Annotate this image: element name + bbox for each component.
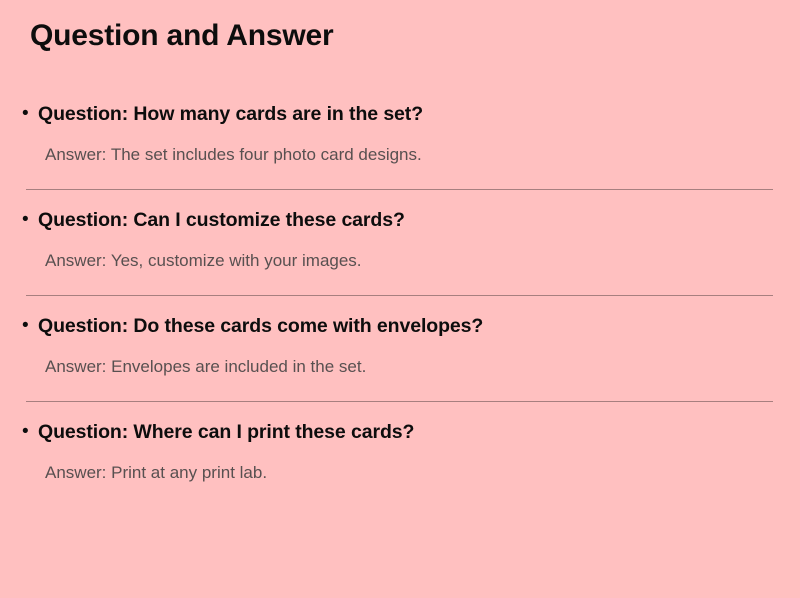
qa-item: • Question: Can I customize these cards?…: [0, 190, 800, 296]
qa-item: • Question: Where can I print these card…: [0, 402, 800, 485]
qa-question-text: Question: How many cards are in the set?: [38, 101, 423, 127]
qa-item: • Question: Do these cards come with env…: [0, 296, 800, 402]
qa-question-row: • Question: How many cards are in the se…: [0, 84, 800, 127]
qa-question-text: Question: Do these cards come with envel…: [38, 313, 483, 339]
qa-answer-text: Answer: Yes, customize with your images.: [45, 249, 800, 273]
qa-answer-text: Answer: Envelopes are included in the se…: [45, 355, 800, 379]
qa-question-row: • Question: Do these cards come with env…: [0, 296, 800, 339]
qa-question-text: Question: Where can I print these cards?: [38, 419, 414, 445]
qa-question-text: Question: Can I customize these cards?: [38, 207, 405, 233]
qa-list: • Question: How many cards are in the se…: [0, 84, 800, 485]
qa-item: • Question: How many cards are in the se…: [0, 84, 800, 190]
qa-answer-text: Answer: Print at any print lab.: [45, 461, 800, 485]
page-title: Question and Answer: [30, 18, 333, 54]
bullet-icon: •: [22, 101, 38, 127]
bullet-icon: •: [22, 207, 38, 233]
qa-answer-text: Answer: The set includes four photo card…: [45, 143, 800, 167]
slide-canvas: Question and Answer • Question: How many…: [0, 0, 800, 598]
bullet-icon: •: [22, 419, 38, 445]
qa-question-row: • Question: Where can I print these card…: [0, 402, 800, 445]
qa-question-row: • Question: Can I customize these cards?: [0, 190, 800, 233]
bullet-icon: •: [22, 313, 38, 339]
